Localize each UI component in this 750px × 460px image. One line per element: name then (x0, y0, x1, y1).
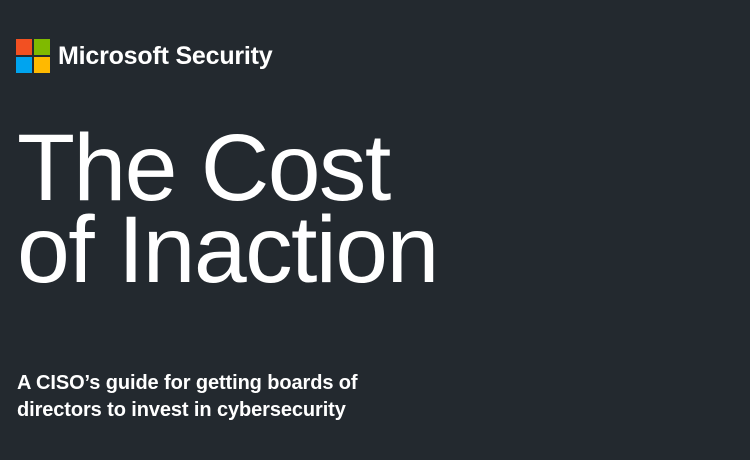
microsoft-logo-green-tile (34, 39, 50, 55)
page-title: The Cost of Inaction (17, 127, 438, 291)
microsoft-logo-icon (16, 39, 50, 73)
microsoft-logo-blue-tile (16, 57, 32, 73)
page-subtitle-line-1: A CISO’s guide for getting boards of (17, 370, 357, 397)
page-subtitle: A CISO’s guide for getting boards of dir… (17, 370, 357, 424)
microsoft-logo-yellow-tile (34, 57, 50, 73)
brand-lockup: Microsoft Security (16, 39, 273, 73)
microsoft-logo-red-tile (16, 39, 32, 55)
brand-name: Microsoft Security (58, 41, 273, 71)
page-subtitle-line-2: directors to invest in cybersecurity (17, 397, 357, 424)
page-title-line-2: of Inaction (17, 209, 438, 291)
cover-page: Microsoft Security The Cost of Inaction … (0, 0, 750, 460)
